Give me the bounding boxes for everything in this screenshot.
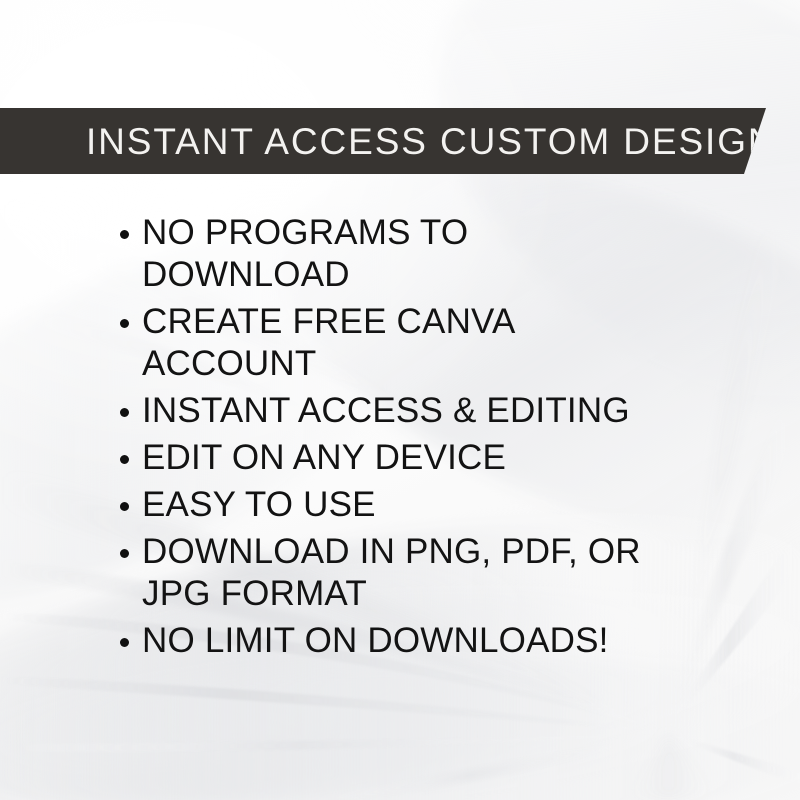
promo-graphic: INSTANT ACCESS CUSTOM DESIGNS NO PROGRAM… <box>0 0 800 800</box>
list-item-label: NO PROGRAMS TO DOWNLOAD <box>142 212 654 296</box>
list-item-label: CREATE FREE CANVA ACCOUNT <box>142 301 654 385</box>
list-item-label: INSTANT ACCESS & EDITING <box>142 390 654 432</box>
list-item-label: EDIT ON ANY DEVICE <box>142 437 654 479</box>
list-item: EDIT ON ANY DEVICE <box>112 437 654 479</box>
list-item: NO LIMIT ON DOWNLOADS! <box>112 620 654 662</box>
bullet-icon <box>120 408 129 417</box>
list-item-label: NO LIMIT ON DOWNLOADS! <box>142 620 654 662</box>
bullet-icon <box>120 502 129 511</box>
list-item-label: DOWNLOAD IN PNG, PDF, OR JPG FORMAT <box>142 531 654 615</box>
bullet-icon <box>120 455 129 464</box>
list-item: DOWNLOAD IN PNG, PDF, OR JPG FORMAT <box>112 531 654 615</box>
bullet-icon <box>120 319 129 328</box>
list-item: CREATE FREE CANVA ACCOUNT <box>112 301 654 385</box>
bullet-icon <box>120 230 129 239</box>
bullet-icon <box>120 638 129 647</box>
feature-list: NO PROGRAMS TO DOWNLOAD CREATE FREE CANV… <box>112 212 752 667</box>
list-item: INSTANT ACCESS & EDITING <box>112 390 654 432</box>
list-item-label: EASY TO USE <box>142 484 654 526</box>
header-banner: INSTANT ACCESS CUSTOM DESIGNS <box>0 108 766 174</box>
bullet-icon <box>120 549 129 558</box>
list-item: EASY TO USE <box>112 484 654 526</box>
page-title: INSTANT ACCESS CUSTOM DESIGNS <box>86 123 800 160</box>
list-item: NO PROGRAMS TO DOWNLOAD <box>112 212 654 296</box>
